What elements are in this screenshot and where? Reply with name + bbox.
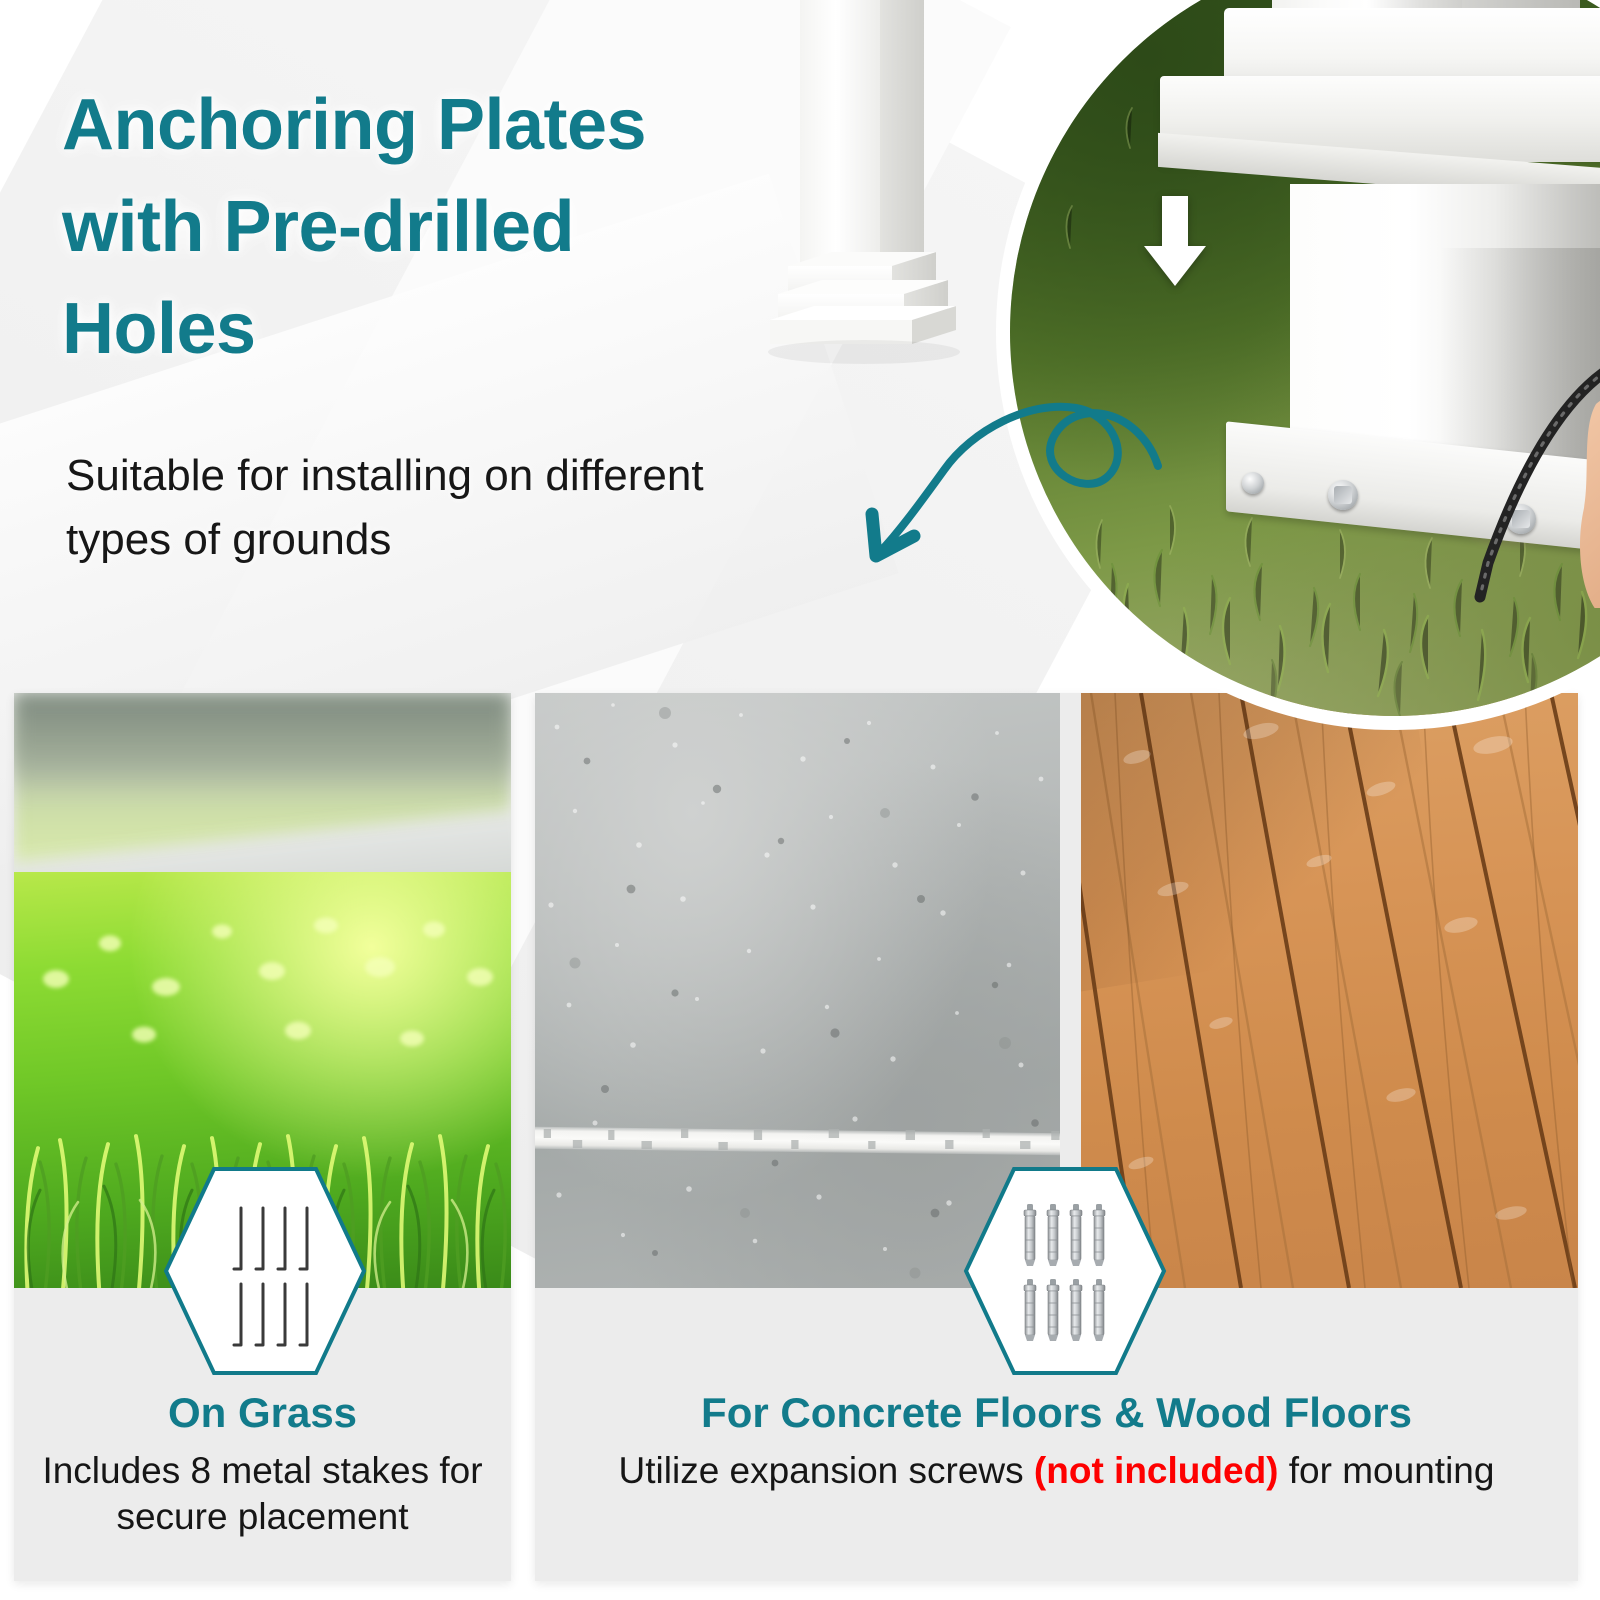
- panel-subtitle-grass: Includes 8 metal stakes for secure place…: [24, 1448, 501, 1541]
- page-title-line-3: Holes: [62, 278, 782, 380]
- anchor-bolt-left: [1328, 480, 1358, 510]
- infographic-stage: Anchoring Plates with Pre-drilled Holes …: [0, 0, 1600, 1600]
- panel-subtitle-concrete-wood: Utilize expansion screws (not included) …: [545, 1448, 1568, 1494]
- page-subtitle: Suitable for installing on different typ…: [66, 444, 786, 572]
- not-included-highlight: (not included): [1034, 1450, 1279, 1491]
- subtitle-suffix: for mounting: [1279, 1450, 1495, 1491]
- curly-pointer-arrow: [840, 370, 1170, 590]
- eight-metal-stakes-icon: [163, 1166, 367, 1376]
- eight-expansion-screws-icon: [963, 1166, 1167, 1376]
- panel-title-grass: On Grass: [14, 1388, 511, 1438]
- subtitle-prefix: Utilize expansion screws: [619, 1450, 1034, 1491]
- hand-holding-stake: [1570, 348, 1600, 608]
- panel-subtitle-grass-line-1: Includes 8 metal stakes for: [24, 1448, 501, 1494]
- post-base-anchored-in-grass-photo: [1010, 0, 1600, 716]
- page-title-line-2: with Pre-drilled: [62, 176, 782, 278]
- paint-line-wear-texture: [535, 1127, 1060, 1153]
- page-subtitle-line-2: types of grounds: [66, 508, 786, 572]
- down-arrow-left: [1142, 196, 1208, 288]
- white-pergola-post-illustration: [756, 0, 986, 380]
- page-title-line-1: Anchoring Plates: [62, 74, 782, 176]
- panel-subtitle-grass-line-2: secure placement: [24, 1494, 501, 1540]
- panel-title-concrete-wood: For Concrete Floors & Wood Floors: [535, 1388, 1578, 1438]
- page-title: Anchoring Plates with Pre-drilled Holes: [62, 74, 782, 381]
- anchor-bolt-far-left: [1242, 472, 1264, 494]
- page-subtitle-line-1: Suitable for installing on different: [66, 444, 786, 508]
